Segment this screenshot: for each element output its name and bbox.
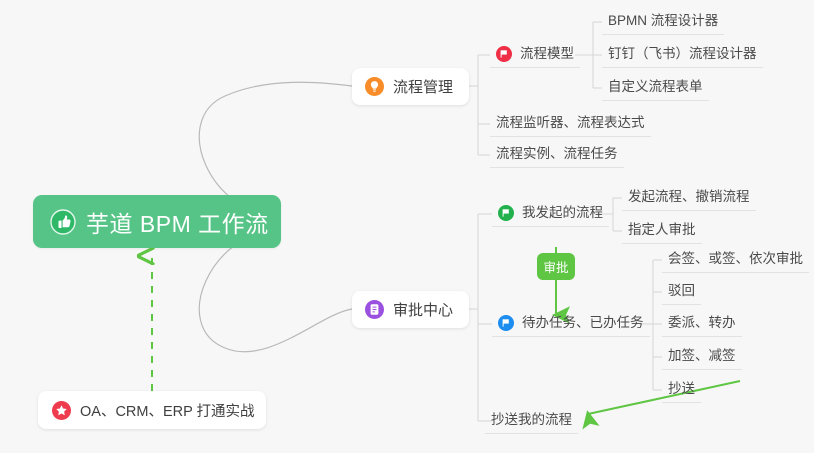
node-label: 驳回 [668, 281, 695, 301]
node-label: 发起流程、撤销流程 [628, 187, 750, 207]
node-label: 流程监听器、流程表达式 [496, 113, 645, 133]
node-reject[interactable]: 驳回 [662, 281, 701, 305]
node-label: 待办任务、已办任务 [522, 313, 644, 333]
approval-badge: 审批 [537, 253, 575, 280]
node-label: 抄送 [668, 379, 695, 399]
node-cc[interactable]: 抄送 [662, 379, 701, 403]
star-icon [52, 401, 71, 420]
callout-label: OA、CRM、ERP 打通实战 [80, 400, 255, 421]
node-add-remove-sign[interactable]: 加签、减签 [662, 346, 742, 370]
node-custom-process-form[interactable]: 自定义流程表单 [602, 77, 709, 101]
node-label: 委派、转办 [668, 313, 736, 333]
lightbulb-icon [365, 77, 384, 96]
flag-icon [496, 46, 512, 62]
node-delegate-transfer[interactable]: 委派、转办 [662, 313, 742, 337]
root-label: 芋道 BPM 工作流 [86, 205, 269, 239]
node-label: 指定人审批 [628, 220, 696, 240]
flag-icon [498, 315, 514, 331]
node-label: 流程模型 [520, 44, 574, 64]
clipboard-icon [365, 300, 384, 319]
approval-badge-label: 审批 [543, 257, 568, 276]
node-dingtalk-feishu-designer[interactable]: 钉钉（飞书）流程设计器 [602, 44, 763, 68]
node-my-initiated-processes[interactable]: 我发起的流程 [492, 203, 609, 227]
node-label: 我发起的流程 [522, 203, 603, 223]
node-label: 抄送我的流程 [491, 410, 572, 430]
node-label: 钉钉（飞书）流程设计器 [608, 44, 757, 64]
node-process-instance-task[interactable]: 流程实例、流程任务 [490, 144, 624, 168]
branch-label: 流程管理 [393, 76, 453, 97]
branch-node-process-management[interactable]: 流程管理 [352, 68, 469, 105]
mindmap-canvas: 芋道 BPM 工作流 流程管理 流程模型 BPMN 流程设计器 钉钉（飞书）流程 [0, 0, 814, 453]
node-process-listener-expression[interactable]: 流程监听器、流程表达式 [490, 113, 651, 137]
node-label: 自定义流程表单 [608, 77, 703, 97]
node-designated-approver[interactable]: 指定人审批 [622, 220, 702, 244]
root-node[interactable]: 芋道 BPM 工作流 [33, 195, 281, 248]
node-bpmn-designer[interactable]: BPMN 流程设计器 [602, 11, 724, 35]
node-todo-done-tasks[interactable]: 待办任务、已办任务 [492, 313, 650, 337]
node-process-model[interactable]: 流程模型 [490, 44, 580, 68]
thumbs-up-icon [50, 209, 76, 235]
node-start-cancel-process[interactable]: 发起流程、撤销流程 [622, 187, 756, 211]
branch-node-approval-center[interactable]: 审批中心 [352, 291, 469, 328]
branch-label: 审批中心 [393, 299, 453, 320]
node-cc-to-me-processes[interactable]: 抄送我的流程 [485, 410, 578, 434]
node-label: 加签、减签 [668, 346, 736, 366]
node-label: 会签、或签、依次审批 [668, 249, 803, 269]
node-countersign-orsign-sequential[interactable]: 会签、或签、依次审批 [662, 249, 809, 273]
flag-icon [498, 205, 514, 221]
callout-node-integration[interactable]: OA、CRM、ERP 打通实战 [38, 391, 266, 429]
node-label: 流程实例、流程任务 [496, 144, 618, 164]
node-label: BPMN 流程设计器 [608, 11, 718, 31]
